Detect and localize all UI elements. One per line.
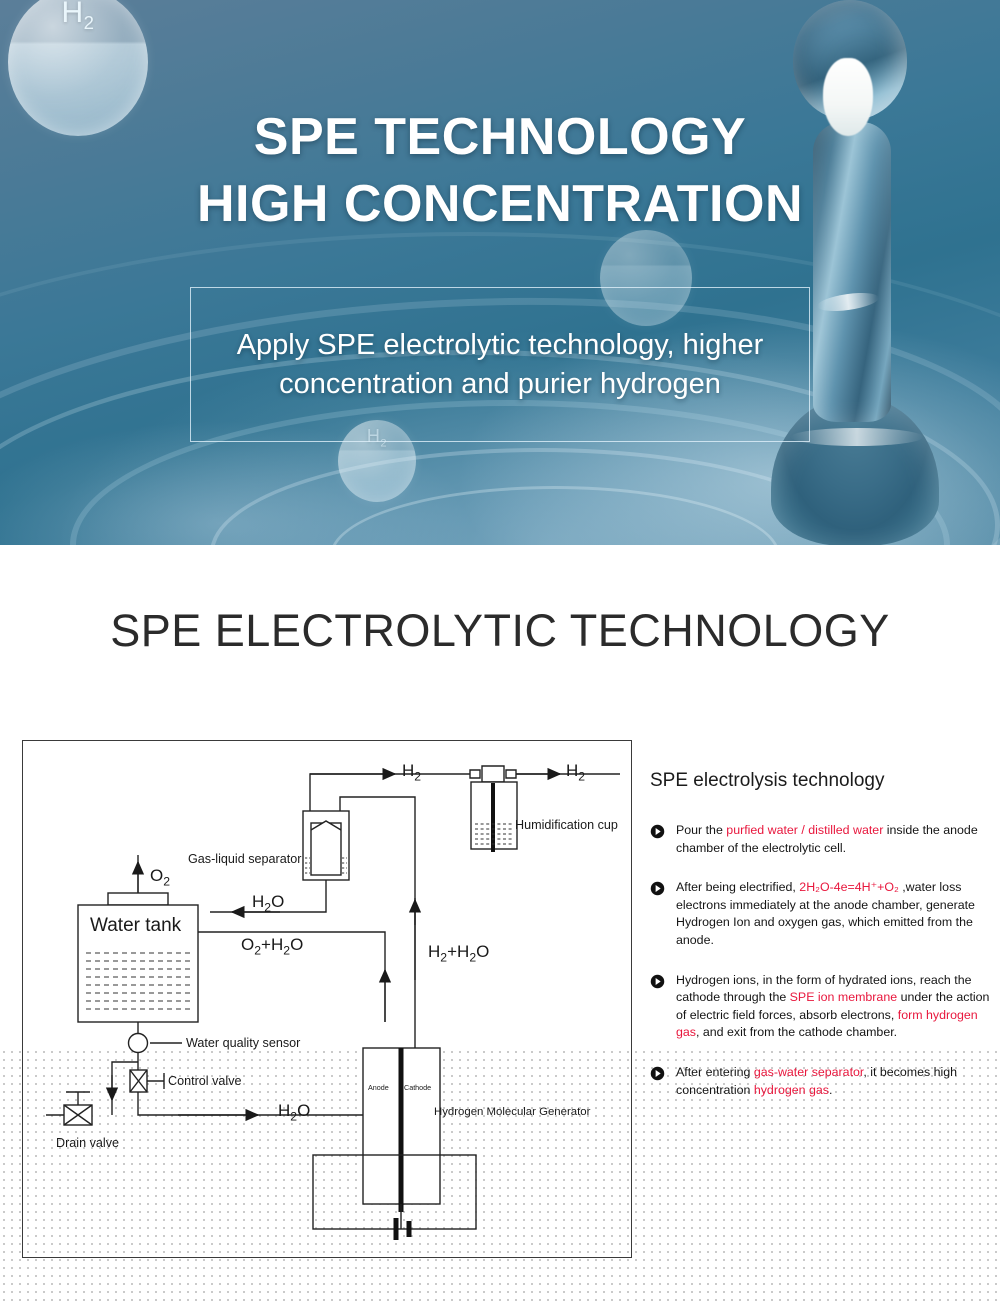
label-humidification-cup: Humidification cup: [515, 818, 618, 832]
hero-banner: H2 H2 SPE TECHNOLOGY HIGH CONCENTRATION …: [0, 0, 1000, 545]
play-circle-icon: [650, 881, 665, 896]
hero-subtitle-box: Apply SPE electrolytic technology, highe…: [190, 287, 810, 442]
label-water-quality-sensor: Water quality sensor: [186, 1036, 300, 1050]
section-heading: SPE ELECTROLYTIC TECHNOLOGY: [0, 605, 1000, 657]
play-circle-icon: [650, 824, 665, 839]
body-text: After entering: [676, 1065, 754, 1079]
label-o2-h2o: O2+H2O: [241, 935, 303, 957]
bullet-text: Hydrogen ions, in the form of hydrated i…: [676, 972, 990, 1042]
highlighted-term: hydrogen gas: [754, 1083, 829, 1097]
highlighted-term: gas-water separator: [754, 1065, 864, 1079]
label-o2: O2: [150, 866, 170, 888]
label-anode: Anode: [368, 1083, 389, 1092]
body-text: After being electrified,: [676, 880, 799, 894]
body-text: Pour the: [676, 823, 726, 837]
bullet-text: Pour the purfied water / distilled water…: [676, 822, 990, 857]
water-drop-graphic: [765, 0, 945, 545]
bullet-list: Pour the purfied water / distilled water…: [650, 822, 990, 1099]
label-h2o-return: H2O: [252, 892, 284, 914]
label-cathode: Cathode: [404, 1083, 431, 1092]
hero-title: SPE TECHNOLOGY HIGH CONCENTRATION: [0, 104, 1000, 237]
bullet-text: After being electrified, 2H₂O-4e=4H⁺+O₂ …: [676, 879, 990, 949]
play-circle-icon: [650, 974, 665, 989]
bullet-text: After entering gas-water separator, it b…: [676, 1064, 990, 1099]
label-h2-right: H2: [566, 761, 585, 783]
highlighted-term: SPE ion membrane: [790, 990, 897, 1004]
description-panel: SPE electrolysis technology Pour the pur…: [650, 770, 990, 1121]
label-h2-h2o: H2+H2O: [428, 942, 489, 964]
label-drain-valve: Drain valve: [56, 1136, 119, 1150]
highlighted-term: 2H₂O-4e=4H⁺+O₂: [799, 880, 899, 894]
hero-title-line2: HIGH CONCENTRATION: [0, 171, 1000, 238]
body-text: .: [829, 1083, 832, 1097]
play-circle-icon: [650, 1066, 665, 1081]
panel-title: SPE electrolysis technology: [650, 770, 990, 792]
label-h2-left: H2: [402, 761, 421, 783]
bullet-item: Pour the purfied water / distilled water…: [650, 822, 990, 857]
hero-title-line1: SPE TECHNOLOGY: [254, 108, 746, 166]
label-gas-liquid-separator: Gas-liquid separator: [188, 852, 301, 866]
bullet-item: Hydrogen ions, in the form of hydrated i…: [650, 972, 990, 1042]
bubble-label: H: [61, 0, 83, 29]
label-control-valve: Control valve: [168, 1074, 242, 1088]
label-hydrogen-molecular-generator: Hydrogen Molecular Generator: [434, 1106, 590, 1118]
hero-subtitle-text: Apply SPE electrolytic technology, highe…: [191, 326, 809, 403]
highlighted-term: purfied water / distilled water: [726, 823, 883, 837]
bubble-label-sub: 2: [84, 12, 95, 33]
label-h2o-feed: H2O: [278, 1101, 310, 1123]
bullet-item: After being electrified, 2H₂O-4e=4H⁺+O₂ …: [650, 879, 990, 949]
label-water-tank: Water tank: [90, 915, 181, 937]
body-text: , and exit from the cathode chamber.: [696, 1025, 897, 1039]
bullet-item: After entering gas-water separator, it b…: [650, 1064, 990, 1099]
